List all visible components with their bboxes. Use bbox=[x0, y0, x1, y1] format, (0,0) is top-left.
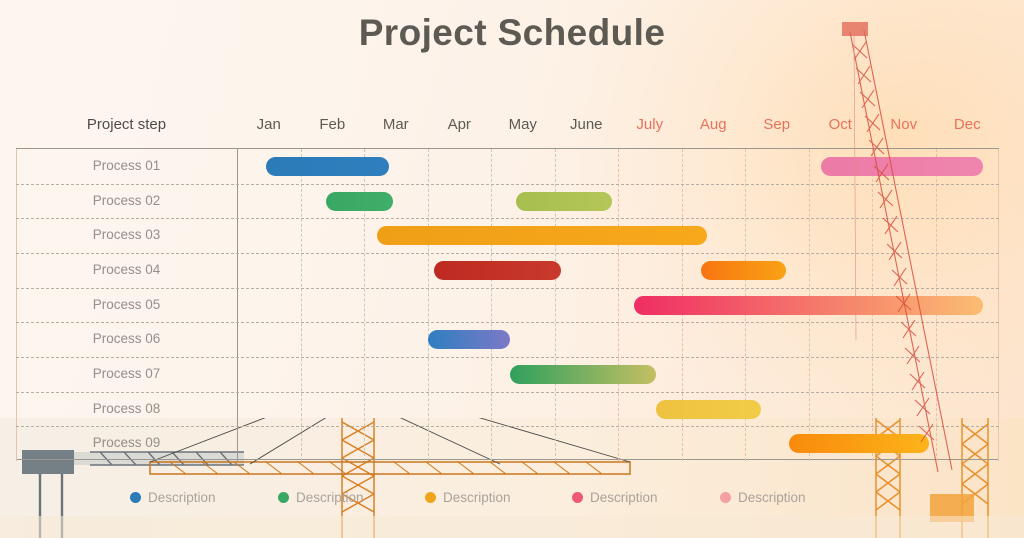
legend-item-5[interactable]: Description bbox=[720, 490, 806, 505]
gantt-bar[interactable] bbox=[656, 400, 761, 419]
legend-label: Description bbox=[738, 490, 806, 505]
row-label-process-08: Process 08 bbox=[16, 392, 237, 427]
legend-label: Description bbox=[148, 490, 216, 505]
gantt-chart: Project step JanFebMarAprMayJuneJulyAugS… bbox=[16, 112, 999, 460]
gantt-bar[interactable] bbox=[634, 296, 983, 315]
legend-item-2[interactable]: Description bbox=[278, 490, 364, 505]
row-label-process-05: Process 05 bbox=[16, 288, 237, 323]
legend-item-3[interactable]: Description bbox=[425, 490, 511, 505]
row-label-process-06: Process 06 bbox=[16, 322, 237, 357]
month-header-row: Project step JanFebMarAprMayJuneJulyAugS… bbox=[16, 112, 999, 147]
gantt-bar[interactable] bbox=[326, 192, 393, 211]
step-column-divider bbox=[237, 149, 238, 461]
month-header-feb: Feb bbox=[301, 116, 365, 133]
gantt-bar[interactable] bbox=[701, 261, 787, 280]
gantt-bar[interactable] bbox=[789, 434, 929, 453]
legend-item-1[interactable]: Description bbox=[130, 490, 216, 505]
gantt-bar[interactable] bbox=[516, 192, 611, 211]
month-header-aug: Aug bbox=[682, 116, 746, 133]
page-title: Project Schedule bbox=[0, 12, 1024, 54]
column-gridline bbox=[301, 149, 302, 461]
month-header-sep: Sep bbox=[745, 116, 809, 133]
gantt-bar[interactable] bbox=[266, 157, 390, 176]
column-gridline bbox=[428, 149, 429, 461]
column-gridline bbox=[491, 149, 492, 461]
row-label-process-01: Process 01 bbox=[16, 149, 237, 184]
month-header-jan: Jan bbox=[237, 116, 301, 133]
legend-dot-icon bbox=[720, 492, 731, 503]
month-header-dec: Dec bbox=[936, 116, 1000, 133]
gantt-grid: Process 01Process 02Process 03Process 04… bbox=[16, 148, 999, 460]
legend-item-4[interactable]: Description bbox=[572, 490, 658, 505]
gantt-bar[interactable] bbox=[821, 157, 983, 176]
month-header-july: July bbox=[618, 116, 682, 133]
row-label-process-03: Process 03 bbox=[16, 218, 237, 253]
chart-legend: DescriptionDescriptionDescriptionDescrip… bbox=[0, 490, 1024, 516]
legend-dot-icon bbox=[572, 492, 583, 503]
project-step-header: Project step bbox=[16, 116, 237, 133]
month-header-oct: Oct bbox=[809, 116, 873, 133]
month-header-mar: Mar bbox=[364, 116, 428, 133]
gantt-bar[interactable] bbox=[434, 261, 561, 280]
row-label-process-02: Process 02 bbox=[16, 184, 237, 219]
month-header-apr: Apr bbox=[428, 116, 492, 133]
legend-label: Description bbox=[590, 490, 658, 505]
legend-label: Description bbox=[443, 490, 511, 505]
month-header-june: June bbox=[555, 116, 619, 133]
row-label-process-09: Process 09 bbox=[16, 426, 237, 461]
gantt-bar[interactable] bbox=[377, 226, 707, 245]
month-header-nov: Nov bbox=[872, 116, 936, 133]
column-gridline bbox=[618, 149, 619, 461]
legend-dot-icon bbox=[278, 492, 289, 503]
row-label-process-07: Process 07 bbox=[16, 357, 237, 392]
gantt-bar[interactable] bbox=[428, 330, 511, 349]
legend-dot-icon bbox=[130, 492, 141, 503]
legend-label: Description bbox=[296, 490, 364, 505]
legend-dot-icon bbox=[425, 492, 436, 503]
row-label-process-04: Process 04 bbox=[16, 253, 237, 288]
gantt-bar[interactable] bbox=[510, 365, 656, 384]
month-header-may: May bbox=[491, 116, 555, 133]
